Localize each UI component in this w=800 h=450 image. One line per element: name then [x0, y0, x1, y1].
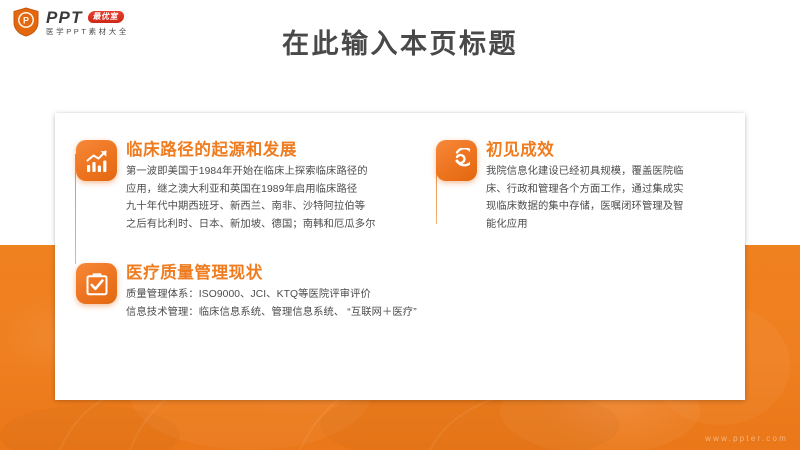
block-body: 质量管理体系：ISO9000、JCI、KTQ等医院评审评价 信息技术管理：临床信… [126, 286, 516, 321]
body-line: 我院信息化建设已经初具规模，覆盖医院临 [486, 163, 726, 181]
body-line: 信息技术管理：临床信息系统、管理信息系统、 “互联网＋医疗” [126, 304, 516, 322]
block-heading: 临床路径的起源和发展 [126, 140, 436, 160]
body-line: 之后有比利时、日本、新加坡、德国；南韩和厄瓜多尔 [126, 216, 436, 234]
block-body: 我院信息化建设已经初具规模，覆盖医院临 床、行政和管理各个方面工作，通过集成实 … [486, 163, 726, 234]
body-line: 现临床数据的集中存储，医嘱闭环管理及智 [486, 198, 726, 216]
power-target-icon [436, 140, 477, 181]
site-watermark: www.ppter.com [705, 434, 788, 443]
block-body: 第一波即美国于1984年开始在临床上探索临床路径的 应用，继之澳大利亚和英国在1… [126, 163, 436, 234]
body-line: 能化应用 [486, 216, 726, 234]
page-title: 在此输入本页标题 [0, 22, 800, 61]
block-quality-management-status: 医疗质量管理现状 质量管理体系：ISO9000、JCI、KTQ等医院评审评价 信… [76, 263, 516, 321]
content-card: 临床路径的起源和发展 第一波即美国于1984年开始在临床上探索临床路径的 应用，… [55, 113, 745, 400]
body-line: 床、行政和管理各个方面工作，通过集成实 [486, 181, 726, 199]
body-line: 九十年代中期西班牙、新西兰、南非、沙特阿拉伯等 [126, 198, 436, 216]
block-heading: 医疗质量管理现状 [126, 263, 516, 283]
clipboard-check-icon [76, 263, 117, 304]
bar-chart-growth-icon [76, 140, 117, 181]
block-initial-results: 初见成效 我院信息化建设已经初具规模，覆盖医院临 床、行政和管理各个方面工作，通… [436, 140, 726, 234]
body-line: 第一波即美国于1984年开始在临床上探索临床路径的 [126, 163, 436, 181]
body-line: 质量管理体系：ISO9000、JCI、KTQ等医院评审评价 [126, 286, 516, 304]
body-line: 应用，继之澳大利亚和英国在1989年启用临床路径 [126, 181, 436, 199]
slide-canvas: P PPT 最优室 医学PPT素材大全 在此输入本页标题 [0, 0, 800, 450]
block-clinical-pathway-origin: 临床路径的起源和发展 第一波即美国于1984年开始在临床上探索临床路径的 应用，… [76, 140, 436, 234]
block-heading: 初见成效 [486, 140, 726, 160]
